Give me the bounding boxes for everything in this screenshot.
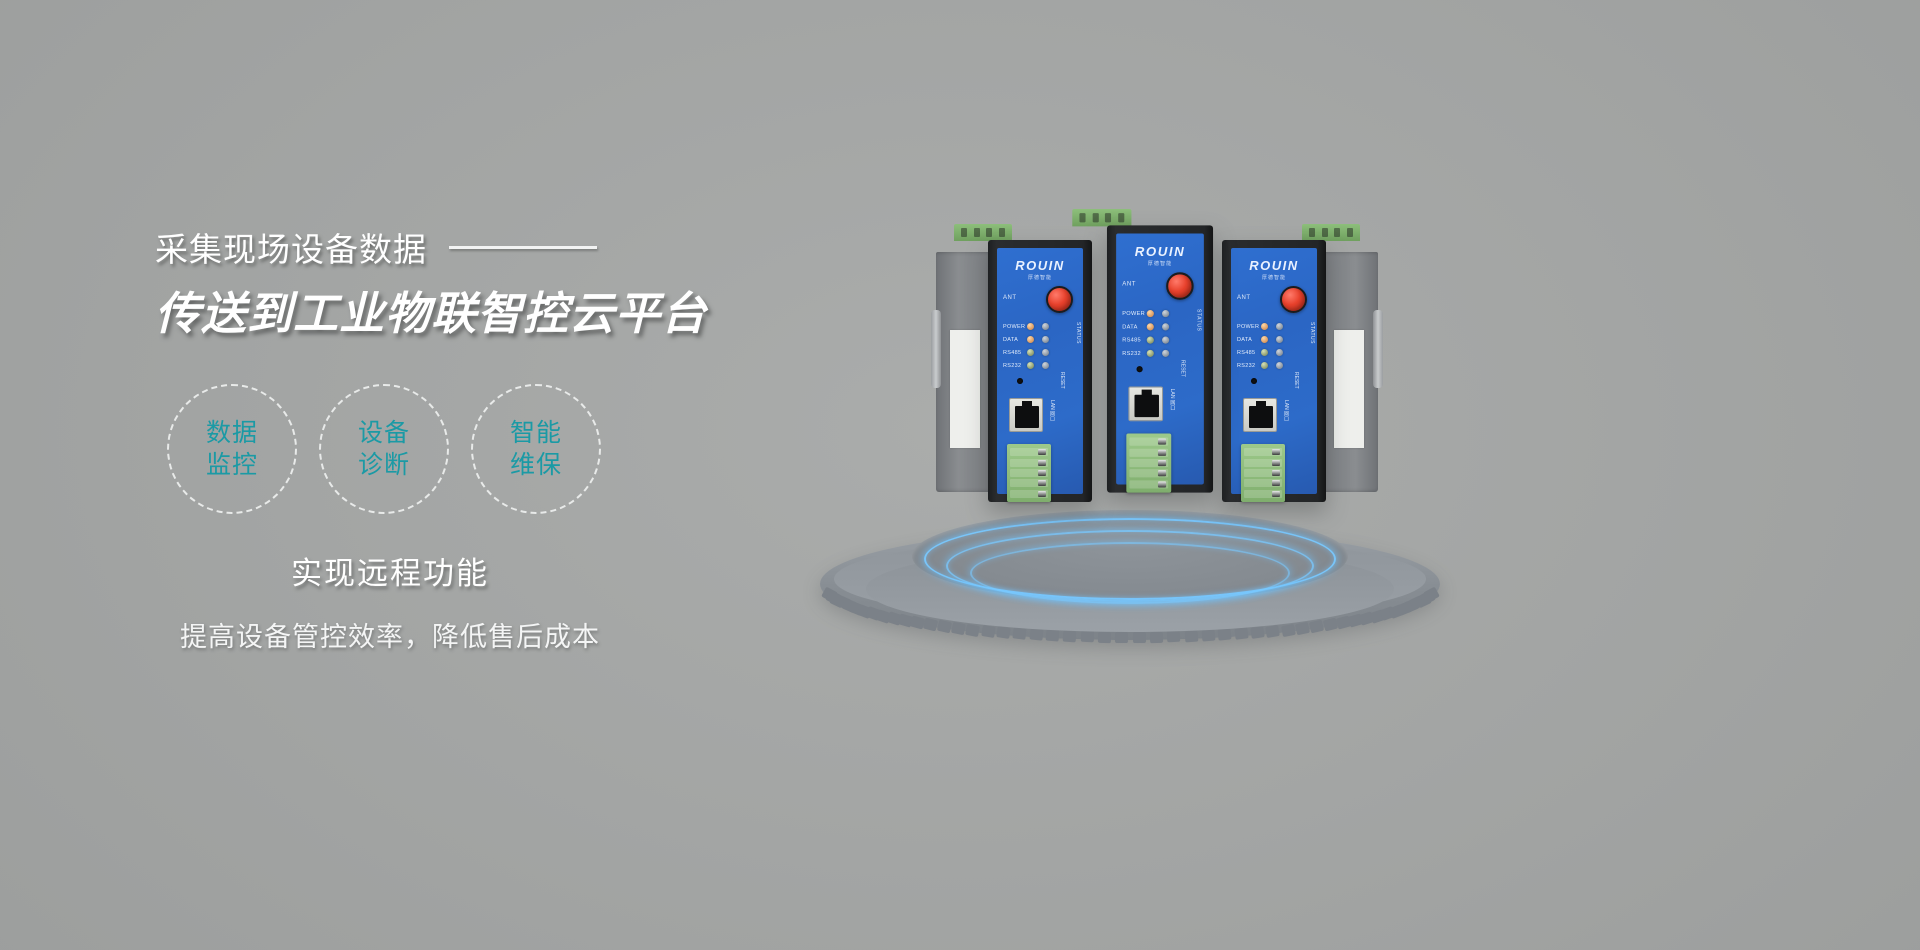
terminal-pin [1244, 490, 1282, 498]
device-body: ROUIN 厚德智能 ANT POWER D [1107, 225, 1213, 492]
pedestal-tooth [1150, 632, 1163, 643]
led-indicator-icon [1276, 362, 1283, 369]
antenna-label: ANT [1003, 295, 1017, 301]
lan-label: LAN 网口 [1169, 389, 1176, 411]
led-label: DATA [1003, 337, 1027, 343]
reset-button[interactable] [1251, 378, 1257, 384]
rj45-ethernet-port-icon[interactable] [1009, 398, 1043, 432]
led-indicator-icon [1261, 323, 1268, 330]
device-side-housing [936, 252, 992, 492]
led-indicator-icon [1147, 337, 1154, 344]
pedestal-tooth [1295, 622, 1310, 635]
led-indicator-icon [1276, 323, 1283, 330]
led-indicator-icon [1042, 349, 1049, 356]
terminal-pin [1079, 213, 1085, 222]
terminal-pin [986, 228, 992, 237]
rj45-ethernet-port-icon[interactable] [1243, 398, 1277, 432]
feature-circle-line1: 设备 [358, 417, 410, 449]
antenna-connector-icon [1166, 272, 1194, 300]
device-spec-label [950, 330, 980, 448]
terminal-pin [1010, 448, 1048, 456]
pedestal-tooth [923, 618, 938, 632]
reset-label: RESET [1059, 372, 1065, 389]
rj45-ethernet-port-icon[interactable] [1128, 387, 1163, 422]
led-label: RS485 [1237, 350, 1261, 356]
status-label: STATUS [1196, 309, 1202, 331]
led-row-rs232: RS232 [1003, 359, 1077, 372]
gateway-device-left[interactable]: ROUIN 厚德智能 ANT POWER D [988, 240, 1092, 502]
led-indicator-icon [1261, 349, 1268, 356]
terminal-pin [1010, 490, 1048, 498]
pedestal-tooth [1063, 631, 1077, 643]
led-indicator-icon [1027, 349, 1034, 356]
terminal-pin [1244, 479, 1282, 487]
led-label: RS485 [1003, 350, 1027, 356]
device-front-panel: ROUIN 厚德智能 ANT POWER D [997, 248, 1083, 494]
brand-logo: ROUIN 厚德智能 [1116, 244, 1204, 267]
feature-circle-row: 数据 监控 设备 诊断 智能 维保 [155, 384, 875, 514]
feature-circle-line1: 智能 [510, 417, 562, 449]
eyebrow-row: 采集现场设备数据 [155, 225, 875, 269]
din-rail-clip [1373, 310, 1383, 388]
pedestal-tooth [1184, 631, 1198, 643]
pedestal-tooth [1080, 631, 1094, 643]
brand-name-cn: 厚德智能 [1231, 274, 1317, 281]
brand-name: ROUIN [1015, 258, 1064, 273]
terminal-pin [1129, 448, 1168, 456]
pedestal-glow-ring-inner [970, 542, 1290, 604]
brand-name: ROUIN [1135, 244, 1185, 259]
led-indicator-icon [1042, 362, 1049, 369]
status-label: STATUS [1309, 322, 1315, 344]
led-row-rs485: RS485 [1122, 334, 1197, 347]
led-row-data: DATA [1003, 333, 1077, 346]
led-indicator-icon [1027, 362, 1034, 369]
led-indicator-icon [1147, 323, 1154, 330]
terminal-pin [974, 228, 980, 237]
led-label: RS485 [1122, 337, 1146, 343]
led-indicator-list: POWER DATA RS485 [1237, 320, 1311, 372]
reset-button[interactable] [1017, 378, 1023, 384]
pedestal-tooth [951, 622, 966, 635]
device-side-housing [1322, 252, 1378, 492]
pedestal-tooth [1281, 623, 1296, 636]
pedestal-tooth [1115, 632, 1128, 643]
pedestal-tooth [937, 620, 952, 634]
device-body: ROUIN 厚德智能 ANT POWER D [1222, 240, 1326, 502]
terminal-pin [1334, 228, 1340, 237]
reset-label: RESET [1179, 360, 1185, 377]
device-front-panel: ROUIN 厚德智能 ANT POWER D [1116, 234, 1204, 485]
led-label: POWER [1003, 324, 1027, 330]
antenna-label: ANT [1122, 281, 1136, 287]
terminal-pin [1105, 213, 1111, 222]
terminal-pin [1010, 479, 1048, 487]
hero-banner: 采集现场设备数据 传送到工业物联智控云平台 数据 监控 设备 诊断 智能 维保 … [0, 0, 1920, 950]
led-indicator-icon [1042, 336, 1049, 343]
led-indicator-icon [1147, 310, 1154, 317]
led-row-rs232: RS232 [1237, 359, 1311, 372]
pedestal-tooth [1250, 626, 1264, 639]
led-label: RS232 [1003, 363, 1027, 369]
pedestal-tooth [1133, 632, 1146, 643]
led-label: DATA [1237, 337, 1261, 343]
led-indicator-icon [1147, 350, 1154, 357]
top-terminal-block [954, 224, 1012, 241]
bottom-terminal-block [1126, 433, 1171, 492]
antenna-connector-icon [1046, 286, 1073, 313]
hero-eyebrow: 采集现场设备数据 [155, 223, 427, 271]
led-indicator-icon [1276, 336, 1283, 343]
terminal-pin [1010, 459, 1048, 467]
product-scene: ROUIN 厚德智能 ANT POWER D [810, 200, 1490, 650]
pedestal-tooth [1098, 632, 1111, 643]
pedestal-tooth [966, 623, 981, 636]
pedestal-tooth [1046, 630, 1060, 642]
device-body: ROUIN 厚德智能 ANT POWER D [988, 240, 1092, 502]
terminal-pin [1010, 469, 1048, 477]
antenna-row: ANT [1122, 272, 1197, 301]
led-row-data: DATA [1122, 320, 1197, 333]
led-indicator-icon [1027, 323, 1034, 330]
terminal-pin [1244, 459, 1282, 467]
terminal-pin [1244, 448, 1282, 456]
led-row-rs485: RS485 [1003, 346, 1077, 359]
hero-mid-line: 实现远程功能 [155, 548, 625, 593]
brand-name-cn: 厚德智能 [997, 274, 1083, 281]
terminal-pin [1244, 469, 1282, 477]
antenna-label: ANT [1237, 295, 1251, 301]
terminal-pin [1309, 228, 1315, 237]
feature-circle-line1: 数据 [206, 417, 258, 449]
terminal-pin [1322, 228, 1328, 237]
feature-circle-line2: 诊断 [358, 449, 410, 481]
led-row-data: DATA [1237, 333, 1311, 346]
terminal-pin [1092, 213, 1098, 222]
feature-circle-line2: 监控 [206, 449, 258, 481]
pedestal-tooth [981, 625, 996, 638]
led-label: DATA [1122, 324, 1146, 330]
pedestal-tooth [1029, 629, 1043, 641]
feature-circle-data-monitoring[interactable]: 数据 监控 [167, 384, 297, 514]
led-label: RS232 [1237, 363, 1261, 369]
led-label: POWER [1237, 324, 1261, 330]
led-indicator-icon [1162, 323, 1169, 330]
pedestal-tooth [1265, 625, 1280, 638]
product-pedestal [820, 470, 1440, 640]
brand-name: ROUIN [1249, 258, 1298, 273]
gateway-device-center[interactable]: ROUIN 厚德智能 ANT POWER D [1107, 225, 1213, 492]
status-label: STATUS [1075, 322, 1081, 344]
led-row-rs485: RS485 [1237, 346, 1311, 359]
pedestal-tooth [1201, 630, 1215, 642]
led-indicator-icon [1162, 350, 1169, 357]
led-indicator-icon [1276, 349, 1283, 356]
led-indicator-list: POWER DATA RS485 [1122, 307, 1197, 360]
brand-logo: ROUIN 厚德智能 [1231, 258, 1317, 281]
led-indicator-icon [1261, 336, 1268, 343]
terminal-pin [999, 228, 1005, 237]
antenna-row: ANT [1237, 286, 1311, 314]
terminal-pin [1118, 213, 1124, 222]
reset-label: RESET [1293, 372, 1299, 389]
pedestal-tooth [1234, 628, 1248, 641]
pedestal-tooth [1167, 631, 1181, 643]
led-indicator-icon [1162, 337, 1169, 344]
gateway-device-right[interactable]: ROUIN 厚德智能 ANT POWER D [1222, 240, 1326, 502]
terminal-pin [1129, 438, 1168, 446]
led-indicator-icon [1027, 336, 1034, 343]
feature-circle-device-diagnosis[interactable]: 设备 诊断 [319, 384, 449, 514]
led-row-power: POWER [1003, 320, 1077, 333]
led-indicator-icon [1261, 362, 1268, 369]
bottom-terminal-block [1007, 444, 1051, 502]
top-terminal-block [1072, 209, 1131, 226]
brand-logo: ROUIN 厚德智能 [997, 258, 1083, 281]
pedestal-tooth [997, 626, 1011, 639]
din-rail-clip [931, 310, 941, 388]
terminal-pin [1129, 480, 1168, 488]
led-indicator-list: POWER DATA RS485 [1003, 320, 1077, 372]
led-label: RS232 [1122, 350, 1146, 356]
pedestal-tooth [1013, 628, 1027, 641]
feature-circle-line2: 维保 [510, 449, 562, 481]
pedestal-tooth [1309, 620, 1324, 634]
led-row-power: POWER [1237, 320, 1311, 333]
led-indicator-icon [1162, 310, 1169, 317]
device-front-panel: ROUIN 厚德智能 ANT POWER D [1231, 248, 1317, 494]
terminal-pin [1129, 469, 1168, 477]
lan-label: LAN 网口 [1049, 400, 1056, 421]
terminal-pin [1347, 228, 1353, 237]
antenna-row: ANT [1003, 286, 1077, 314]
lan-label: LAN 网口 [1283, 400, 1290, 421]
terminal-pin [961, 228, 967, 237]
brand-name-cn: 厚德智能 [1116, 260, 1204, 267]
led-row-power: POWER [1122, 307, 1197, 320]
hero-text-panel: 采集现场设备数据 传送到工业物联智控云平台 数据 监控 设备 诊断 智能 维保 … [155, 225, 875, 654]
antenna-connector-icon [1280, 286, 1307, 313]
led-indicator-icon [1042, 323, 1049, 330]
eyebrow-divider [449, 246, 597, 249]
hero-headline: 传送到工业物联智控云平台 [155, 277, 875, 342]
terminal-pin [1129, 459, 1168, 467]
led-row-rs232: RS232 [1122, 347, 1197, 360]
led-label: POWER [1122, 311, 1146, 317]
device-spec-label [1334, 330, 1364, 448]
hero-sub-line: 提高设备管控效率，降低售后成本 [155, 615, 625, 654]
feature-circle-smart-maintenance[interactable]: 智能 维保 [471, 384, 601, 514]
bottom-terminal-block [1241, 444, 1285, 502]
reset-button[interactable] [1137, 366, 1143, 372]
top-terminal-block [1302, 224, 1360, 241]
pedestal-tooth [1218, 629, 1232, 641]
